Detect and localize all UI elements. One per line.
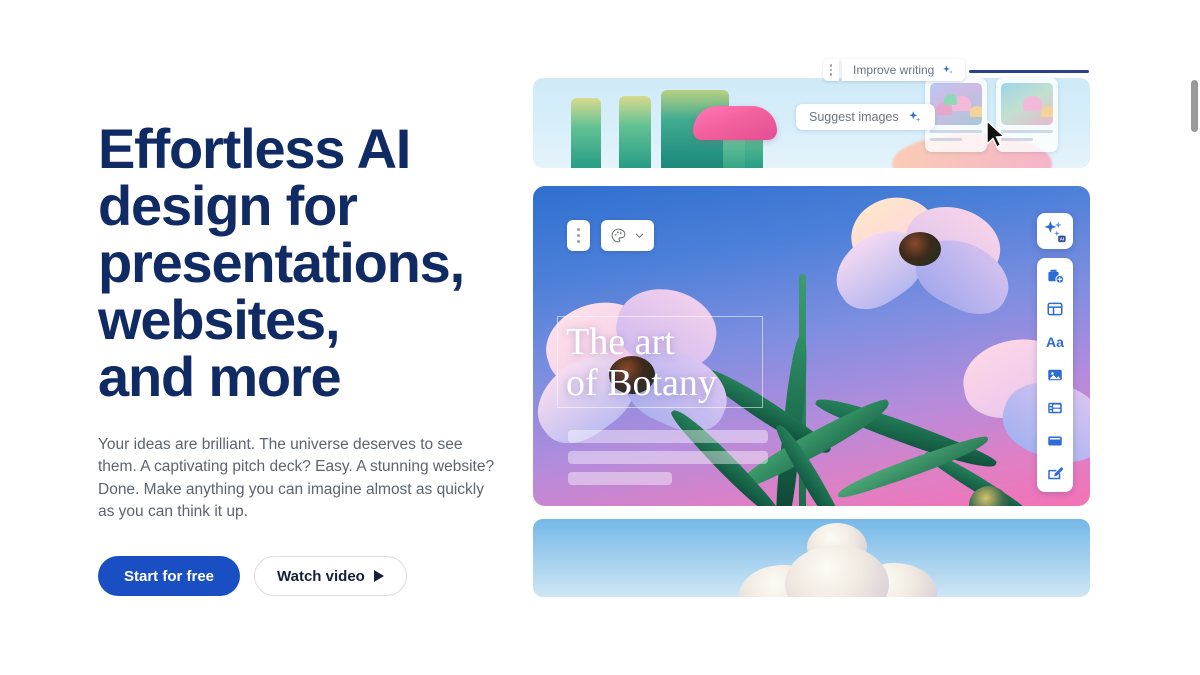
plant-stalk bbox=[571, 98, 601, 168]
slide-body-placeholders bbox=[568, 430, 768, 493]
suggest-images-button[interactable]: Suggest images bbox=[796, 104, 935, 130]
mushroom-shape bbox=[1041, 106, 1053, 117]
dot bbox=[830, 64, 833, 67]
drag-handle-icon[interactable] bbox=[823, 59, 839, 81]
layout-icon[interactable] bbox=[1042, 298, 1068, 320]
watch-video-label: Watch video bbox=[277, 568, 365, 585]
suggest-images-label: Suggest images bbox=[809, 110, 899, 124]
mushroom-shape bbox=[944, 94, 957, 105]
mushroom-cap bbox=[693, 106, 777, 140]
placeholder-line bbox=[930, 130, 982, 133]
start-for-free-button[interactable]: Start for free bbox=[98, 556, 240, 596]
hero-cta-group: Start for free Watch video bbox=[98, 556, 518, 596]
app-preview: Suggest images bbox=[533, 0, 1090, 675]
add-card-icon[interactable] bbox=[1042, 265, 1068, 287]
hero-subtitle: Your ideas are brilliant. The universe d… bbox=[98, 434, 498, 525]
chevron-down-icon bbox=[634, 230, 645, 241]
placeholder-bar bbox=[568, 451, 768, 464]
landing-page: Effortless AI design for presentations, … bbox=[0, 0, 1200, 675]
media-icon[interactable] bbox=[1042, 397, 1068, 419]
watch-video-button[interactable]: Watch video bbox=[254, 556, 407, 596]
slide-controls bbox=[567, 220, 654, 251]
improve-writing-label: Improve writing bbox=[853, 63, 934, 77]
placeholder-line bbox=[930, 138, 962, 141]
mushroom-illustration-1 bbox=[930, 83, 982, 125]
slide-edit-toolbar: Aa bbox=[1037, 258, 1073, 492]
vertical-scrollbar[interactable] bbox=[1189, 0, 1200, 675]
sparkle-ai-icon: AI bbox=[1043, 219, 1067, 243]
preview-card-main[interactable]: The art of Botany AI bbox=[533, 186, 1090, 506]
flower-center bbox=[899, 232, 941, 266]
sparkle-ai-icon bbox=[942, 64, 954, 76]
mushroom-illustration-2 bbox=[1001, 83, 1053, 125]
sparkle-ai-icon bbox=[908, 110, 922, 124]
placeholder-bar bbox=[568, 430, 768, 443]
scrollbar-thumb[interactable] bbox=[1191, 80, 1198, 132]
draw-icon[interactable] bbox=[1042, 463, 1068, 485]
improve-writing-button[interactable]: Improve writing bbox=[842, 59, 965, 81]
cloud-shape bbox=[785, 545, 889, 597]
image-icon[interactable] bbox=[1042, 364, 1068, 386]
placeholder-bar bbox=[568, 472, 672, 485]
page-title: Effortless AI design for presentations, … bbox=[98, 120, 518, 406]
slide-title[interactable]: The art of Botany bbox=[566, 322, 796, 403]
color-palette-icon bbox=[610, 227, 627, 244]
embed-icon[interactable] bbox=[1042, 430, 1068, 452]
preview-card-bottom[interactable] bbox=[533, 519, 1090, 597]
ai-assistant-button[interactable]: AI bbox=[1037, 213, 1073, 249]
text-icon[interactable]: Aa bbox=[1042, 331, 1068, 353]
theme-picker-button[interactable] bbox=[601, 220, 654, 251]
dot bbox=[830, 73, 833, 76]
improve-writing-control[interactable]: Improve writing bbox=[823, 59, 965, 81]
scrolled-element-edge bbox=[969, 70, 1089, 73]
placeholder-line bbox=[1001, 130, 1053, 133]
mushroom-shape bbox=[970, 106, 982, 117]
mouse-pointer-icon bbox=[985, 120, 1007, 150]
mushroom-shape bbox=[1023, 96, 1042, 111]
hero-section: Effortless AI design for presentations, … bbox=[98, 120, 518, 596]
dot bbox=[577, 228, 580, 231]
plant-stalk bbox=[619, 96, 651, 168]
dot bbox=[577, 240, 580, 243]
play-icon bbox=[374, 570, 384, 582]
svg-text:AI: AI bbox=[1060, 237, 1065, 242]
dot bbox=[830, 69, 833, 72]
dot bbox=[577, 234, 580, 237]
kebab-menu-icon[interactable] bbox=[567, 220, 590, 251]
